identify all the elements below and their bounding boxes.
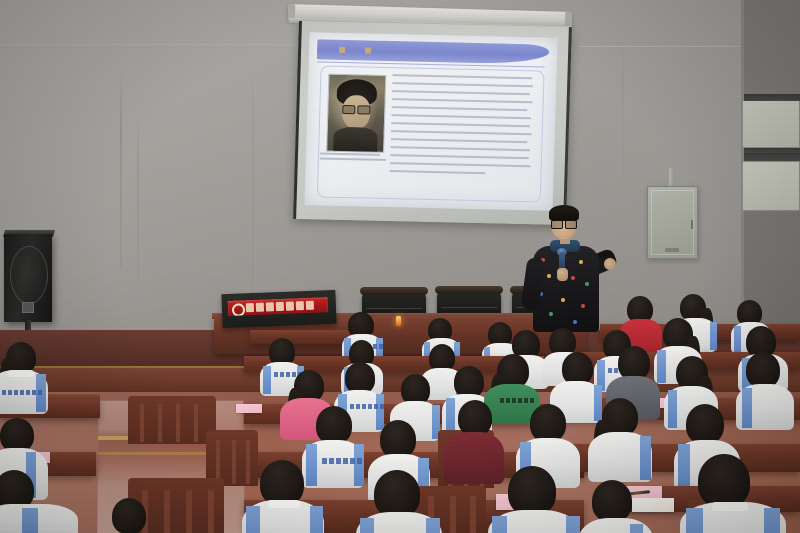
text-line <box>390 138 527 143</box>
cabinet-door <box>651 190 694 255</box>
loudspeaker <box>4 234 52 322</box>
cabinet-latch[interactable] <box>691 220 693 229</box>
banner-char <box>256 303 264 312</box>
glasses-lens <box>565 220 577 229</box>
slide-photo-caption <box>320 152 388 164</box>
backrest-slat <box>208 490 214 533</box>
glasses-lens <box>357 105 370 114</box>
backrest-slat <box>246 440 250 484</box>
backrest-slat <box>158 404 162 442</box>
banner-char <box>306 301 314 310</box>
uniform-stripe <box>566 516 580 533</box>
uniform-collar <box>268 500 300 508</box>
podium[interactable] <box>221 290 336 328</box>
student-head <box>508 466 556 516</box>
uniform-stripe <box>678 444 690 492</box>
uniform-stripe <box>263 366 271 394</box>
student-head <box>458 400 492 436</box>
uniform-stripe <box>306 444 317 486</box>
uniform-collar <box>8 370 34 377</box>
bench-backrest <box>128 396 216 444</box>
text-line <box>392 90 530 95</box>
sweater-dot <box>571 276 575 280</box>
uniform-stripe <box>764 508 780 533</box>
student-head <box>686 404 724 444</box>
backrest-slat <box>186 490 192 533</box>
backrest-slat <box>194 404 198 442</box>
window-panel <box>742 161 800 211</box>
wall-streak <box>252 60 254 310</box>
slide-banner <box>317 39 550 64</box>
wall-streak <box>622 40 624 180</box>
school-emblem-icon <box>232 303 245 316</box>
podium-banner <box>228 297 329 316</box>
uniform-stripe <box>630 524 643 533</box>
text-line <box>392 98 533 103</box>
chair-seam <box>366 308 422 309</box>
window-frame <box>744 148 800 153</box>
speaker-woofer <box>10 246 48 304</box>
slide-body-text <box>389 74 534 181</box>
chair-seam <box>441 307 497 308</box>
uniform-stripe <box>640 436 651 480</box>
uniform-stripe <box>710 322 717 350</box>
uniform-stripe <box>360 518 374 533</box>
student-uniform <box>0 504 78 533</box>
uniform-stripe <box>446 398 455 434</box>
backrest-slat <box>164 490 170 533</box>
wall-streak <box>120 70 122 270</box>
uniform-back-text <box>322 458 362 464</box>
uniform-stripe <box>742 388 752 428</box>
student-jacket <box>444 432 504 484</box>
uniform-stripe <box>734 326 741 352</box>
presenter-glasses <box>551 220 577 227</box>
student-head <box>618 346 650 380</box>
uniform-back-text <box>350 404 384 409</box>
slide-banner-glyph <box>339 47 345 53</box>
text-line <box>392 82 533 87</box>
banner-char <box>286 301 294 310</box>
student-head <box>0 418 34 452</box>
projector-screen[interactable] <box>293 21 572 225</box>
student-head <box>592 480 632 522</box>
notebook-page[interactable] <box>632 498 674 512</box>
sweater-dot <box>549 312 553 316</box>
student-head <box>316 406 352 444</box>
table-lamp-light <box>396 316 401 326</box>
uniform-stripe <box>657 350 666 383</box>
glasses-lens <box>551 220 563 229</box>
backrest-slat <box>232 440 236 484</box>
wall-streak <box>137 110 139 280</box>
uniform-stripe <box>246 506 260 533</box>
presenter-hair <box>549 205 579 221</box>
backrest-slat <box>470 496 476 533</box>
window-frame <box>744 94 800 101</box>
text-line <box>390 162 531 167</box>
banner-char <box>246 303 254 312</box>
chair-headrest <box>435 286 503 294</box>
text-line <box>391 106 527 111</box>
student-head <box>380 420 416 458</box>
student-head <box>530 404 566 442</box>
cabinet-label <box>665 248 679 252</box>
portrait-glasses <box>342 105 370 113</box>
text-line <box>390 146 530 151</box>
uniform-stripe <box>686 508 703 533</box>
uniform-stripe <box>594 385 602 421</box>
text-line <box>391 130 532 135</box>
backrest-slat <box>450 496 456 533</box>
uniform-stripe <box>426 518 440 533</box>
text-line <box>390 154 529 159</box>
uniform-collar <box>712 502 748 511</box>
text-line <box>391 122 530 127</box>
uniform-stripe <box>22 508 38 533</box>
presenter-right-hand <box>604 258 616 270</box>
wall-electrical-cabinet[interactable] <box>647 186 698 259</box>
glasses-lens <box>342 105 355 114</box>
sweater-dot <box>547 274 551 278</box>
slide-portrait-photo <box>326 74 386 153</box>
text-line <box>391 114 531 119</box>
portrait-shoulders <box>333 127 378 153</box>
sweater-dot <box>581 304 585 308</box>
sweater-dot <box>573 320 577 324</box>
banner-char <box>276 302 284 311</box>
presenter-torso <box>533 246 599 332</box>
uniform-stripe <box>354 444 364 486</box>
handout-paper[interactable] <box>236 404 262 413</box>
sweater-dot <box>561 298 565 302</box>
text-line <box>390 170 486 174</box>
window-panel <box>742 100 800 148</box>
jacket-back-text <box>500 398 534 403</box>
uniform-stripe <box>492 516 507 533</box>
student-head <box>698 454 750 508</box>
podium-banner-text <box>246 300 325 312</box>
backrest-slat <box>140 404 144 442</box>
caption-line <box>320 152 380 155</box>
student-head <box>746 352 780 388</box>
student-head <box>374 470 420 518</box>
wall-seam <box>0 44 300 45</box>
backrest-slat <box>176 404 180 442</box>
cabinet-conduit <box>669 168 673 188</box>
window-mullion <box>744 152 800 161</box>
slide-banner-glyph <box>365 47 371 53</box>
projected-slide <box>305 32 558 211</box>
speaker-badge <box>22 302 34 313</box>
sweater-dot <box>579 260 583 264</box>
uniform-stripe <box>376 394 384 430</box>
uniform-back-text <box>2 390 42 395</box>
banner-char <box>296 301 304 310</box>
uniform-stripe <box>668 390 677 428</box>
caption-line <box>320 157 386 160</box>
lecture-hall-photo <box>0 0 800 533</box>
student-head <box>112 498 146 533</box>
sweater-dot <box>585 282 589 286</box>
uniform-stripe <box>310 506 323 533</box>
banner-char <box>266 302 274 311</box>
chair-headrest <box>360 287 428 295</box>
presenter-hand-holding-mic <box>557 268 568 281</box>
